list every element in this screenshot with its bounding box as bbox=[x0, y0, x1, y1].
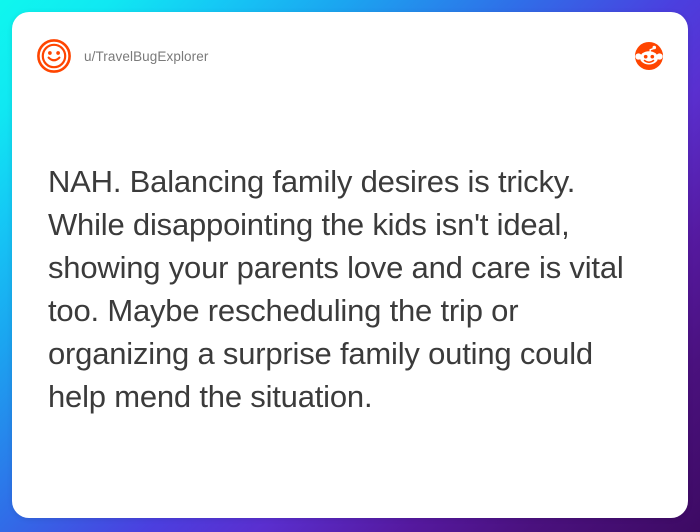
card-header: u/TravelBugExplorer bbox=[36, 32, 666, 80]
reddit-snoo-icon[interactable] bbox=[632, 39, 666, 73]
post-body-text: NAH. Balancing family desires is tricky.… bbox=[48, 160, 658, 418]
username-label: u/TravelBugExplorer bbox=[84, 49, 208, 64]
gradient-background: u/TravelBugExplorer bbox=[0, 0, 700, 532]
smiley-face-icon[interactable] bbox=[36, 38, 72, 74]
reddit-comment-card: u/TravelBugExplorer bbox=[12, 12, 688, 518]
